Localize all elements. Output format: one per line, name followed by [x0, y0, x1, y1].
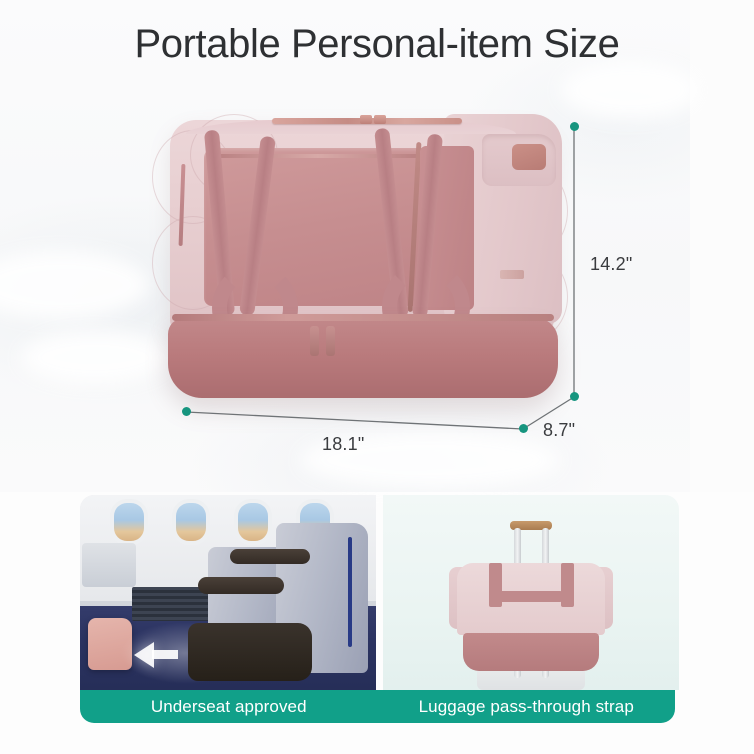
trolley-bag-passthrough-strap [500, 591, 562, 602]
front-pocket-zipper [210, 154, 426, 158]
page-title: Portable Personal-item Size [0, 22, 754, 67]
caption-underseat: Underseat approved [80, 697, 378, 717]
cloud-wisp [0, 250, 150, 320]
cabin-window [176, 503, 206, 541]
pointer-arrow-icon [134, 642, 154, 668]
feature-panels [80, 495, 675, 723]
dimension-label-height: 14.2" [590, 254, 632, 275]
bottom-zipper-pull [310, 326, 319, 356]
cloud-wisp [20, 330, 170, 385]
dimension-dot-bottom-left [182, 407, 191, 416]
product-infographic: Portable Personal-item Size [0, 0, 754, 754]
cloud-wisp [560, 60, 700, 120]
seat-accent-stripe [348, 537, 352, 647]
brand-label-tag [500, 270, 524, 279]
dimension-label-width: 18.1" [322, 434, 364, 455]
cabin-window [114, 503, 144, 541]
photo-airplane-cabin [80, 495, 376, 690]
cabin-scene [80, 495, 376, 690]
top-zipper-pull [374, 115, 386, 124]
product-image-duffel-bag [162, 112, 562, 402]
photo-trolley-passthrough [383, 495, 679, 690]
feature-panel-passthrough [383, 495, 679, 723]
dimension-dot-bottom-right [519, 424, 528, 433]
pointer-arrow-tail [152, 650, 178, 659]
trolley-bag-lower [463, 633, 599, 671]
top-zipper-pull [360, 115, 372, 124]
trolley-bag-strap-vertical-right [561, 563, 574, 607]
seat-base-cushion [188, 623, 312, 681]
dimension-label-depth: 8.7" [543, 420, 575, 441]
seat-back-pocket [82, 543, 136, 587]
side-pocket-contents [512, 144, 546, 170]
bag-bottom-shoe-compartment [168, 318, 558, 398]
dimension-dot-corner [570, 392, 579, 401]
trolley-scene [383, 495, 679, 690]
seat-armrest [198, 577, 284, 594]
feature-caption-bar: Underseat approved Luggage pass-through … [80, 690, 675, 723]
dimension-dot-top [570, 122, 579, 131]
seat-armrest [230, 549, 310, 564]
bag-elastic-side-pocket [482, 134, 556, 186]
cabin-window [238, 503, 268, 541]
bottom-zipper-pull [326, 326, 335, 356]
feature-panel-underseat [80, 495, 376, 723]
bottom-compartment-zipper [172, 314, 554, 321]
caption-passthrough: Luggage pass-through strap [378, 697, 676, 717]
hero-background-seam [690, 0, 754, 492]
